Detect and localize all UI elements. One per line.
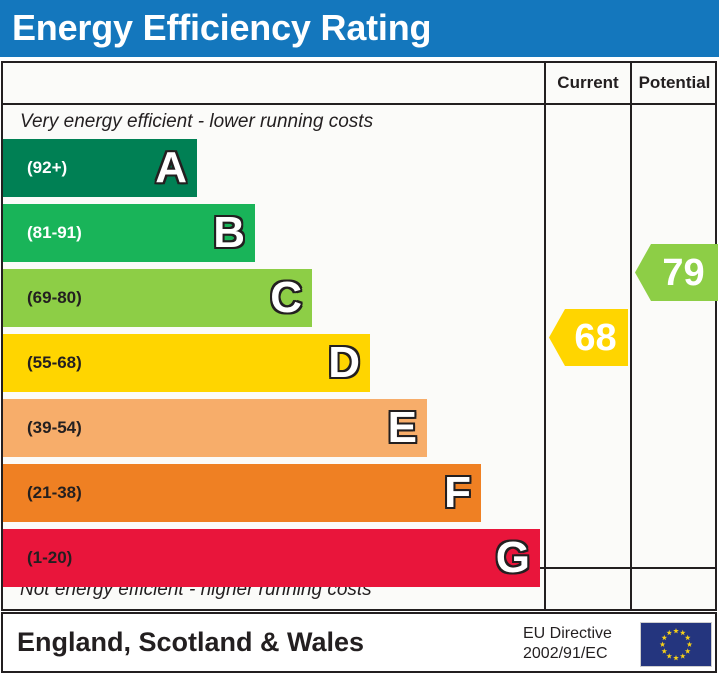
eu-directive-line1: EU Directive: [523, 624, 631, 644]
rating-arrow-current: 68: [549, 309, 628, 366]
rating-band-g: (1-20)G: [3, 529, 540, 587]
rating-arrow-potential: 79: [635, 244, 718, 301]
column-header-current: Current: [546, 73, 630, 93]
rating-table: Current Potential Very energy efficient …: [1, 61, 717, 611]
band-letter-label: F: [444, 471, 471, 515]
rating-band-f: (21-38)F: [3, 464, 481, 522]
epc-certificate-chart: Energy Efficiency Rating Current Potenti…: [0, 0, 719, 675]
band-letter-label: G: [496, 536, 530, 580]
eu-directive-label: EU Directive 2002/91/EC: [523, 624, 631, 664]
header-divider: [3, 103, 715, 105]
band-letter-label: B: [213, 211, 245, 255]
band-range-label: (69-80): [27, 288, 82, 308]
rating-band-c: (69-80)C: [3, 269, 312, 327]
eu-flag-icon: [640, 622, 712, 667]
rating-band-a: (92+)A: [3, 139, 197, 197]
current-column-divider: [544, 63, 546, 609]
band-letter-label: C: [270, 276, 302, 320]
rating-value-potential: 79: [657, 254, 710, 292]
band-letter-label: E: [388, 406, 417, 450]
eu-directive-line2: 2002/91/EC: [523, 644, 631, 664]
band-letter-label: D: [328, 341, 360, 385]
band-range-label: (39-54): [27, 418, 82, 438]
potential-column-divider: [630, 63, 632, 609]
band-range-label: (21-38): [27, 483, 82, 503]
rating-band-b: (81-91)B: [3, 204, 255, 262]
rating-value-current: 68: [571, 319, 620, 357]
band-range-label: (55-68): [27, 353, 82, 373]
caption-very-efficient: Very energy efficient - lower running co…: [20, 111, 373, 133]
band-range-label: (1-20): [27, 548, 72, 568]
page-title: Energy Efficiency Rating: [12, 7, 431, 49]
footer-bar: England, Scotland & Wales EU Directive 2…: [1, 612, 717, 673]
rating-band-d: (55-68)D: [3, 334, 370, 392]
band-letter-label: A: [155, 146, 187, 190]
band-range-label: (92+): [27, 158, 67, 178]
column-header-potential: Potential: [632, 73, 717, 93]
region-label: England, Scotland & Wales: [17, 627, 364, 658]
rating-band-e: (39-54)E: [3, 399, 427, 457]
title-bar: Energy Efficiency Rating: [0, 0, 719, 57]
band-range-label: (81-91): [27, 223, 82, 243]
